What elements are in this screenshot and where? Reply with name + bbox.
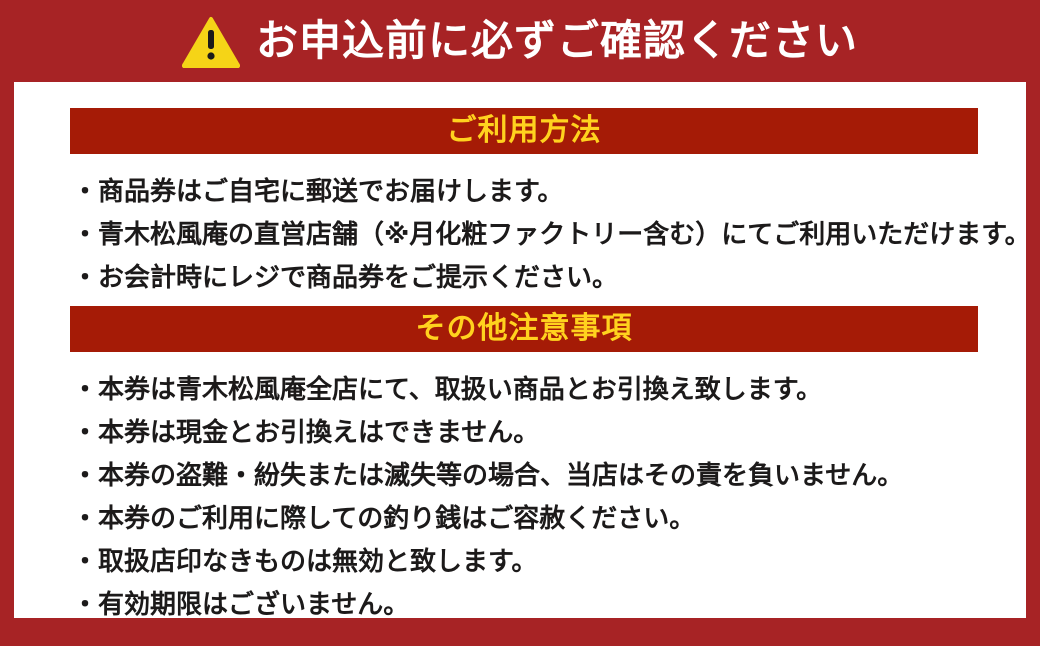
list-item: ・本券は現金とお引換えはできません。 <box>72 411 1012 454</box>
notice-sheet: ご利用方法 ・商品券はご自宅に郵送でお届けします。 ・青木松風庵の直営店舗（※月… <box>14 82 1026 618</box>
section-banner-usage: ご利用方法 <box>70 108 978 154</box>
notice-page: お申込前に必ずご確認ください ご利用方法 ・商品券はご自宅に郵送でお届けします。… <box>0 0 1040 646</box>
page-header: お申込前に必ずご確認ください <box>0 0 1040 82</box>
page-title: お申込前に必ずご確認ください <box>256 20 858 62</box>
list-item: ・青木松風庵の直営店舗（※月化粧ファクトリー含む）にてご利用いただけます。 <box>72 213 1012 256</box>
warning-triangle-icon <box>182 16 240 68</box>
list-item: ・取扱店印なきものは無効と致します。 <box>72 540 1012 583</box>
list-item: ・有効期限はございません。 <box>72 583 1012 626</box>
list-item: ・本券のご利用に際しての釣り銭はご容赦ください。 <box>72 497 1012 540</box>
list-item: ・商品券はご自宅に郵送でお届けします。 <box>72 170 1012 213</box>
list-item: ・本券の盗難・紛失または滅失等の場合、当店はその責を負いません。 <box>72 454 1012 497</box>
list-item: ・お会計時にレジで商品券をご提示ください。 <box>72 256 1012 299</box>
list-item: ・本券は青木松風庵全店にて、取扱い商品とお引換え致します。 <box>72 368 1012 411</box>
section-banner-notes: その他注意事項 <box>70 306 978 352</box>
notes-list: ・本券は青木松風庵全店にて、取扱い商品とお引換え致します。 ・本券は現金とお引換… <box>72 368 1012 626</box>
usage-list: ・商品券はご自宅に郵送でお届けします。 ・青木松風庵の直営店舗（※月化粧ファクト… <box>72 170 1012 299</box>
